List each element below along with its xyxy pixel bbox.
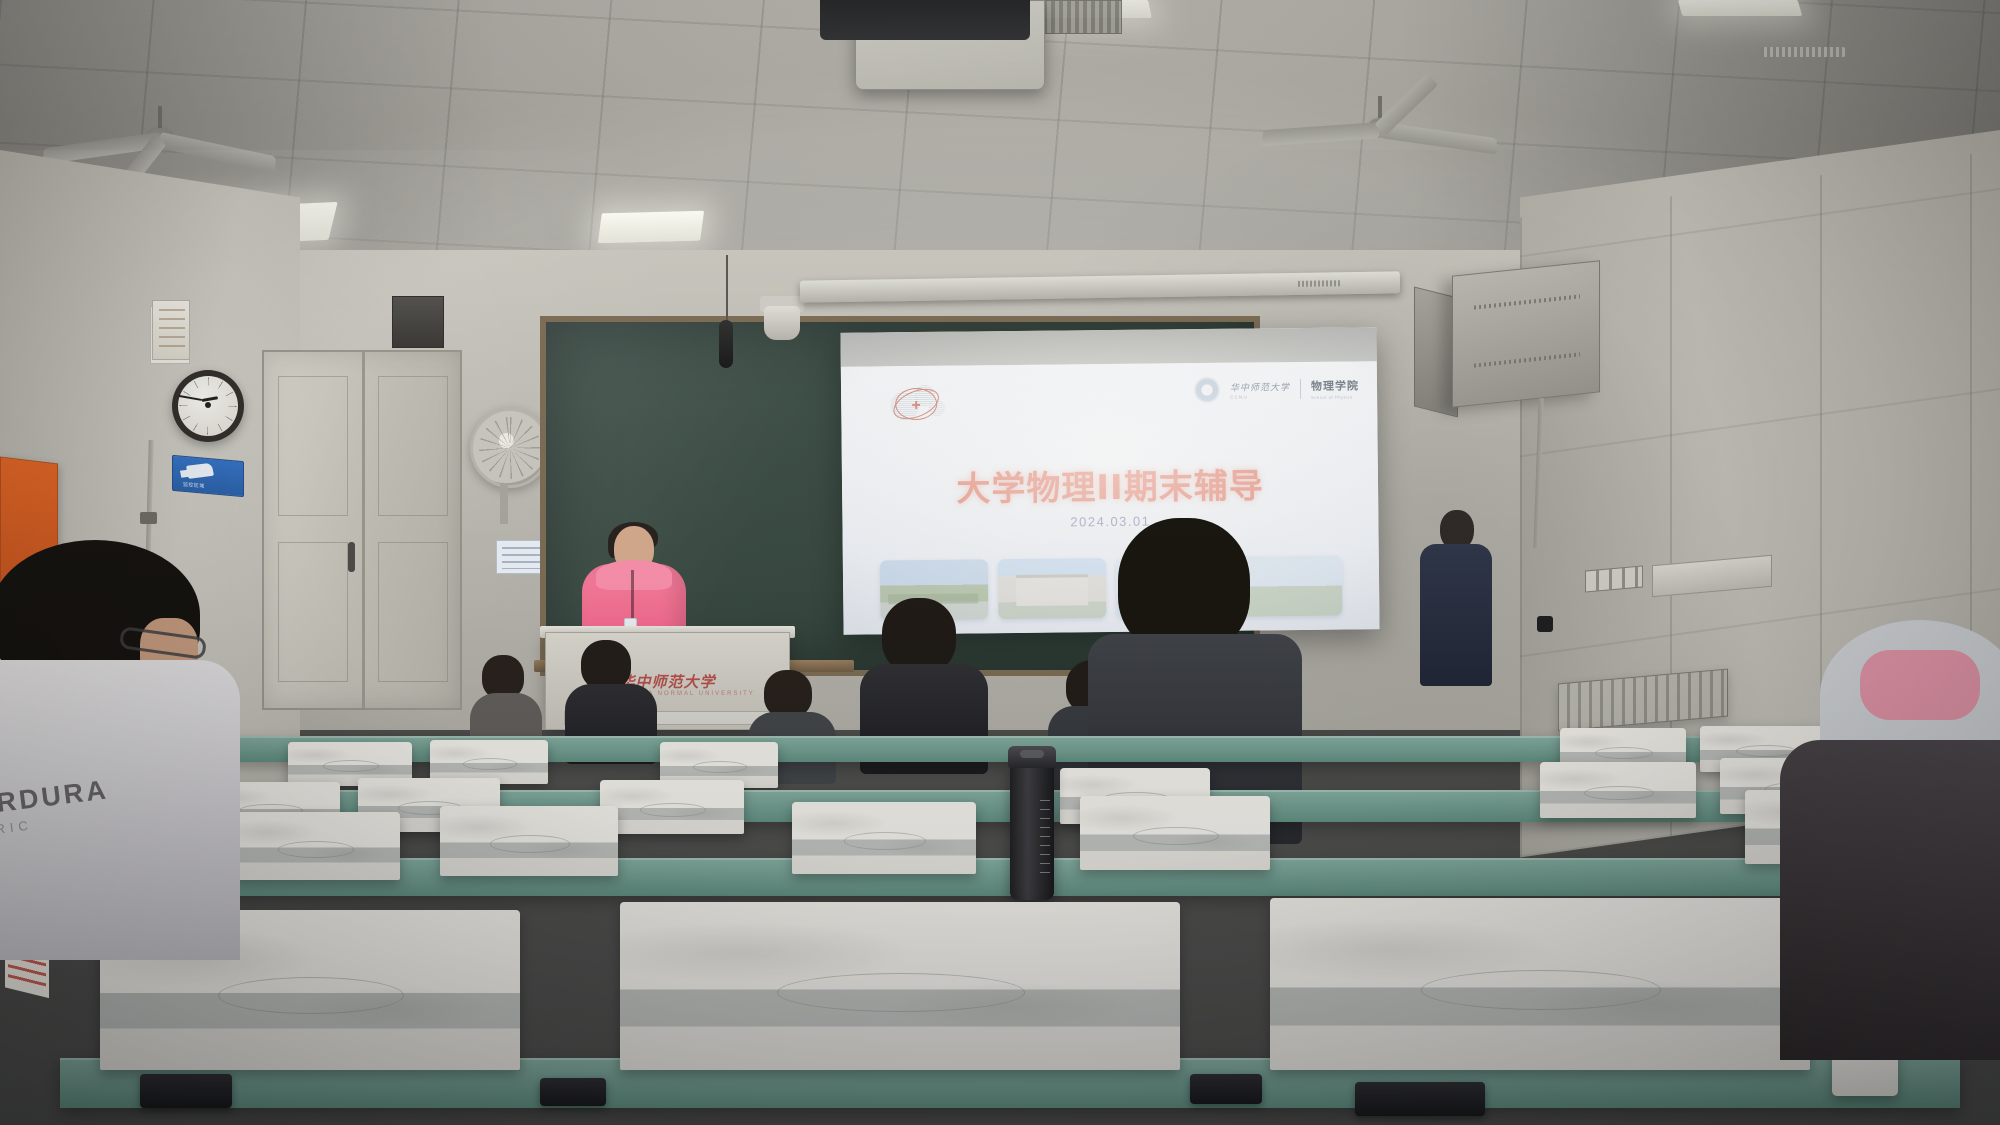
- wall-mounted-fan: [470, 408, 550, 488]
- fan-grill-icon: [479, 417, 541, 479]
- wall-notice-sign: [152, 300, 190, 360]
- microphone-cable: [726, 255, 728, 327]
- smartphone-on-desk[interactable]: [540, 1078, 606, 1106]
- seat-wear: [1540, 762, 1696, 818]
- seat-row3[interactable]: [600, 780, 744, 834]
- seat-row3[interactable]: [1540, 762, 1696, 818]
- department-name-cn: 物理学院: [1311, 377, 1359, 394]
- clock-center-pin: [205, 402, 211, 408]
- foreground-person-right: [1760, 620, 2000, 1060]
- student-head: [764, 670, 812, 718]
- screen-top-border: [840, 327, 1376, 367]
- seat-front-right[interactable]: [1270, 898, 1810, 1070]
- standing-person-body: [1420, 544, 1492, 686]
- bottle-measure-marks: [1040, 800, 1050, 880]
- classroom-door[interactable]: [262, 350, 462, 710]
- pipe-clamp: [140, 512, 157, 524]
- seat-wear: [1270, 898, 1810, 1070]
- fan-mount-stem: [500, 484, 508, 524]
- atom-nucleus-icon: [912, 401, 920, 409]
- student-foreground-right: [1088, 518, 1294, 808]
- university-seal-icon: [1194, 377, 1220, 403]
- door-panel: [278, 376, 348, 516]
- wall-speaker: [1452, 260, 1600, 408]
- slide-logo-group: 华中师范大学 CCNU 物理学院 School of Physics: [1194, 375, 1359, 403]
- smartphone-on-desk[interactable]: [1190, 1074, 1262, 1104]
- door-panel: [278, 542, 348, 682]
- person-dark-coat: [1780, 740, 2000, 1060]
- student-back-left-2: [565, 640, 655, 750]
- student-head: [581, 640, 631, 690]
- standing-person: [1420, 510, 1492, 686]
- lecturer-hood: [596, 560, 672, 590]
- door-handle[interactable]: [348, 542, 355, 572]
- surveillance-sign: 监控区域: [172, 455, 244, 497]
- hanging-microphone: [719, 320, 733, 368]
- door-panel: [378, 542, 448, 682]
- projector-dark-housing: [820, 0, 1030, 40]
- student-head: [882, 598, 956, 674]
- ceiling-light-panel: [598, 211, 704, 244]
- fan-rod: [158, 106, 162, 130]
- smartphone-on-desk[interactable]: [140, 1074, 232, 1108]
- student-center: [860, 598, 986, 758]
- black-water-bottle[interactable]: [1010, 760, 1054, 900]
- bottle-cap[interactable]: [1008, 746, 1056, 768]
- wall-clock: [172, 370, 244, 442]
- department-name-block: 物理学院 School of Physics: [1311, 377, 1359, 400]
- university-name-cn: 华中师范大学: [1230, 380, 1290, 394]
- atom-china-map-emblem: [879, 376, 952, 437]
- seat-row2[interactable]: [440, 806, 618, 876]
- wall-electrical-box: [392, 296, 444, 348]
- door-center-seam: [362, 352, 365, 708]
- university-name-en: CCNU: [1230, 394, 1290, 400]
- door-panel: [378, 376, 448, 516]
- seat-wear: [1080, 796, 1270, 870]
- projector-vent-icon: [1761, 47, 1845, 57]
- screen-roller-label: [1298, 280, 1340, 287]
- department-name-en: School of Physics: [1311, 394, 1359, 400]
- classroom-photo: 监控区域: [0, 0, 2000, 1125]
- seat-wear: [440, 806, 618, 876]
- person-pink-garment: [1860, 650, 1980, 720]
- ceiling-light-panel: [1678, 0, 1803, 16]
- ceiling-camera: [764, 306, 800, 340]
- seat-row2[interactable]: [792, 802, 976, 874]
- slide-title: 大学物理II期末辅导: [842, 457, 1378, 512]
- smartphone-on-desk[interactable]: [1355, 1082, 1485, 1116]
- seat-row2[interactable]: [1080, 796, 1270, 870]
- seat-wear: [792, 802, 976, 874]
- logo-divider: [1300, 379, 1301, 399]
- security-camera-icon: [186, 463, 214, 479]
- notice-text-lines: [159, 309, 185, 353]
- seat-front-center[interactable]: [620, 902, 1180, 1070]
- seat-wear: [620, 902, 1180, 1070]
- foreground-student-left: CORDURA FABRIC: [0, 540, 270, 960]
- camera-lens-icon: [1537, 616, 1553, 632]
- seat-wear: [600, 780, 744, 834]
- surveillance-sign-text: 监控区域: [183, 481, 205, 490]
- university-name-block: 华中师范大学 CCNU: [1230, 380, 1290, 400]
